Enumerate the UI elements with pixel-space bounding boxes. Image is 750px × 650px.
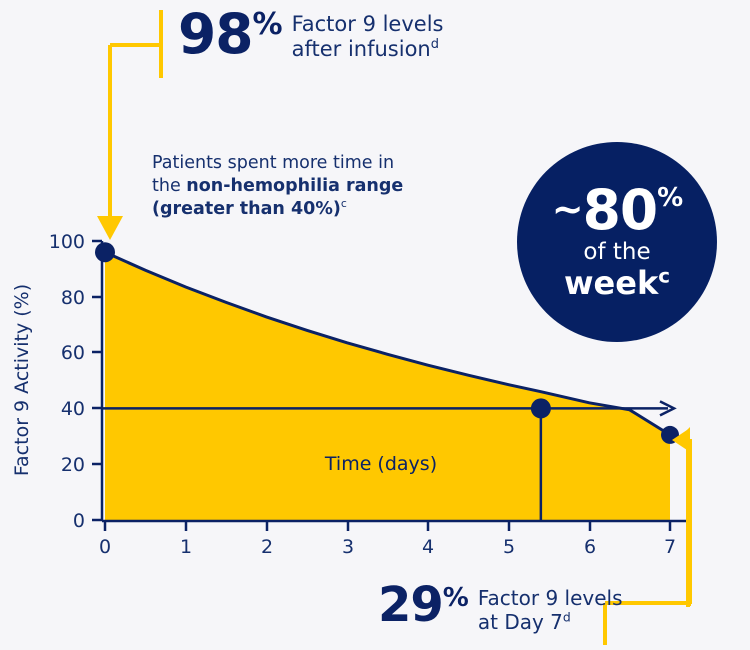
- week-badge-value: 80: [583, 184, 658, 236]
- infographic-root: Time (days) 100 80 60 40 20 0 Factor 9 A…: [0, 0, 750, 650]
- range-note-footnote: c: [341, 197, 347, 210]
- svg-text:20: 20: [61, 454, 85, 476]
- range-note-plain: the: [152, 176, 186, 196]
- callout-bottom-footnote: d: [563, 609, 571, 624]
- data-point-day5p4: [531, 398, 551, 418]
- non-hemophilia-range-note: Patients spent more time in the non-hemo…: [152, 152, 472, 221]
- callout-top-value: 98: [178, 8, 253, 60]
- x-axis-tick-labels: 0 1 2 3 4 5 6 7: [99, 536, 676, 558]
- callout-bottom-29: 29 % Factor 9 levels at Day 7d: [378, 583, 623, 634]
- week-percentage-badge: ~80% of the weekc: [517, 142, 717, 342]
- svg-text:0: 0: [73, 510, 85, 532]
- svg-text:5: 5: [503, 536, 515, 558]
- week-badge-primary: ~80%: [552, 184, 682, 236]
- week-badge-line2: of the: [583, 239, 650, 267]
- callout-bottom-value: 29: [378, 583, 443, 629]
- week-badge-line3: weekc: [564, 267, 670, 301]
- y-axis-title: Factor 9 Activity (%): [11, 284, 33, 476]
- callout-bottom-line1: Factor 9 levels: [478, 586, 623, 610]
- svg-text:3: 3: [342, 536, 354, 558]
- x-axis-ticks: [105, 521, 670, 531]
- callout-top-line1: Factor 9 levels: [292, 12, 444, 36]
- data-point-day0: [95, 242, 115, 262]
- callout-bottom-percent: %: [443, 585, 469, 611]
- svg-text:80: 80: [61, 287, 85, 309]
- week-badge-week-word: week: [564, 264, 658, 302]
- callout-top-percent: %: [253, 10, 283, 40]
- svg-text:2: 2: [261, 536, 273, 558]
- svg-text:60: 60: [61, 342, 85, 364]
- callout-bottom-line2: at Day 7: [478, 610, 563, 634]
- time-days-inside-label: Time (days): [324, 453, 437, 475]
- week-badge-percent: %: [657, 186, 682, 211]
- range-note-lead: Patients spent more time in: [152, 153, 394, 173]
- svg-text:100: 100: [49, 231, 85, 253]
- range-note-bold1: non-hemophilia range: [186, 176, 403, 196]
- svg-text:4: 4: [422, 536, 434, 558]
- y-axis-tick-labels: 100 80 60 40 20 0: [49, 231, 85, 532]
- svg-text:1: 1: [180, 536, 192, 558]
- range-note-bold2: (greater than 40%): [152, 199, 341, 219]
- y-axis-ticks: [92, 241, 102, 520]
- callout-top-footnote: d: [431, 37, 439, 52]
- week-badge-footnote: c: [658, 264, 670, 287]
- svg-text:0: 0: [99, 536, 111, 558]
- week-badge-tilde: ~: [552, 190, 583, 228]
- callout-top-line2: after infusion: [292, 37, 431, 61]
- callout-top-98: 98 % Factor 9 levels after infusiond: [178, 8, 443, 62]
- callout-bottom-copy: Factor 9 levels at Day 7d: [478, 586, 623, 634]
- svg-text:6: 6: [584, 536, 596, 558]
- svg-text:40: 40: [61, 398, 85, 420]
- callout-top-copy: Factor 9 levels after infusiond: [292, 12, 444, 62]
- svg-text:7: 7: [664, 536, 676, 558]
